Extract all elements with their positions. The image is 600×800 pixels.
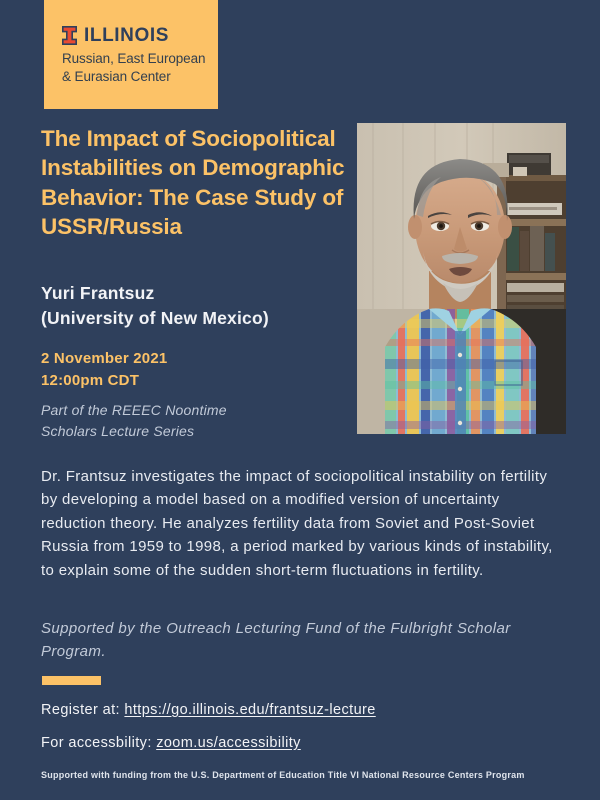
logo-unit-line-2: & Eurasian Center	[62, 68, 218, 86]
register-label: Register at:	[41, 702, 120, 718]
funding-note: Supported by the Outreach Lecturing Fund…	[41, 618, 566, 664]
funding-footer: Supported with funding from the U.S. Dep…	[41, 770, 571, 780]
series-line-1: Part of the REEEC Noontime	[41, 400, 351, 421]
event-datetime: 2 November 2021 12:00pm CDT	[41, 348, 351, 392]
logo-unit-line-1: Russian, East European	[62, 50, 218, 68]
event-abstract: Dr. Frantsuz investigates the impact of …	[41, 465, 566, 582]
logo-wordmark-row: ILLINOIS	[62, 26, 218, 45]
register-row: Register at: https://go.illinois.edu/fra…	[41, 702, 566, 718]
event-date: 2 November 2021	[41, 348, 351, 370]
event-time: 12:00pm CDT	[41, 370, 351, 392]
speaker-block: Yuri Frantsuz (University of New Mexico)	[41, 281, 351, 331]
accent-divider-bar	[42, 676, 101, 685]
event-title: The Impact of Sociopolitical Instabiliti…	[41, 124, 351, 242]
speaker-affiliation: (University of New Mexico)	[41, 306, 351, 331]
series-line-2: Scholars Lecture Series	[41, 421, 351, 442]
event-flyer: ILLINOIS Russian, East European & Eurasi…	[0, 0, 600, 800]
speaker-photo	[357, 123, 566, 434]
accessibility-link[interactable]: zoom.us/accessibility	[156, 735, 301, 751]
illinois-logo-block: ILLINOIS Russian, East European & Eurasi…	[44, 0, 218, 109]
lecture-series-note: Part of the REEEC Noontime Scholars Lect…	[41, 400, 351, 441]
register-link[interactable]: https://go.illinois.edu/frantsuz-lecture	[124, 702, 375, 718]
accessibility-row: For accessbility: zoom.us/accessibility	[41, 735, 566, 751]
illinois-block-i-icon	[62, 26, 77, 45]
speaker-name: Yuri Frantsuz	[41, 281, 351, 306]
logo-wordmark-text: ILLINOIS	[84, 26, 169, 45]
logo-unit-name: Russian, East European & Eurasian Center	[62, 50, 218, 86]
accessibility-label: For accessbility:	[41, 735, 152, 751]
